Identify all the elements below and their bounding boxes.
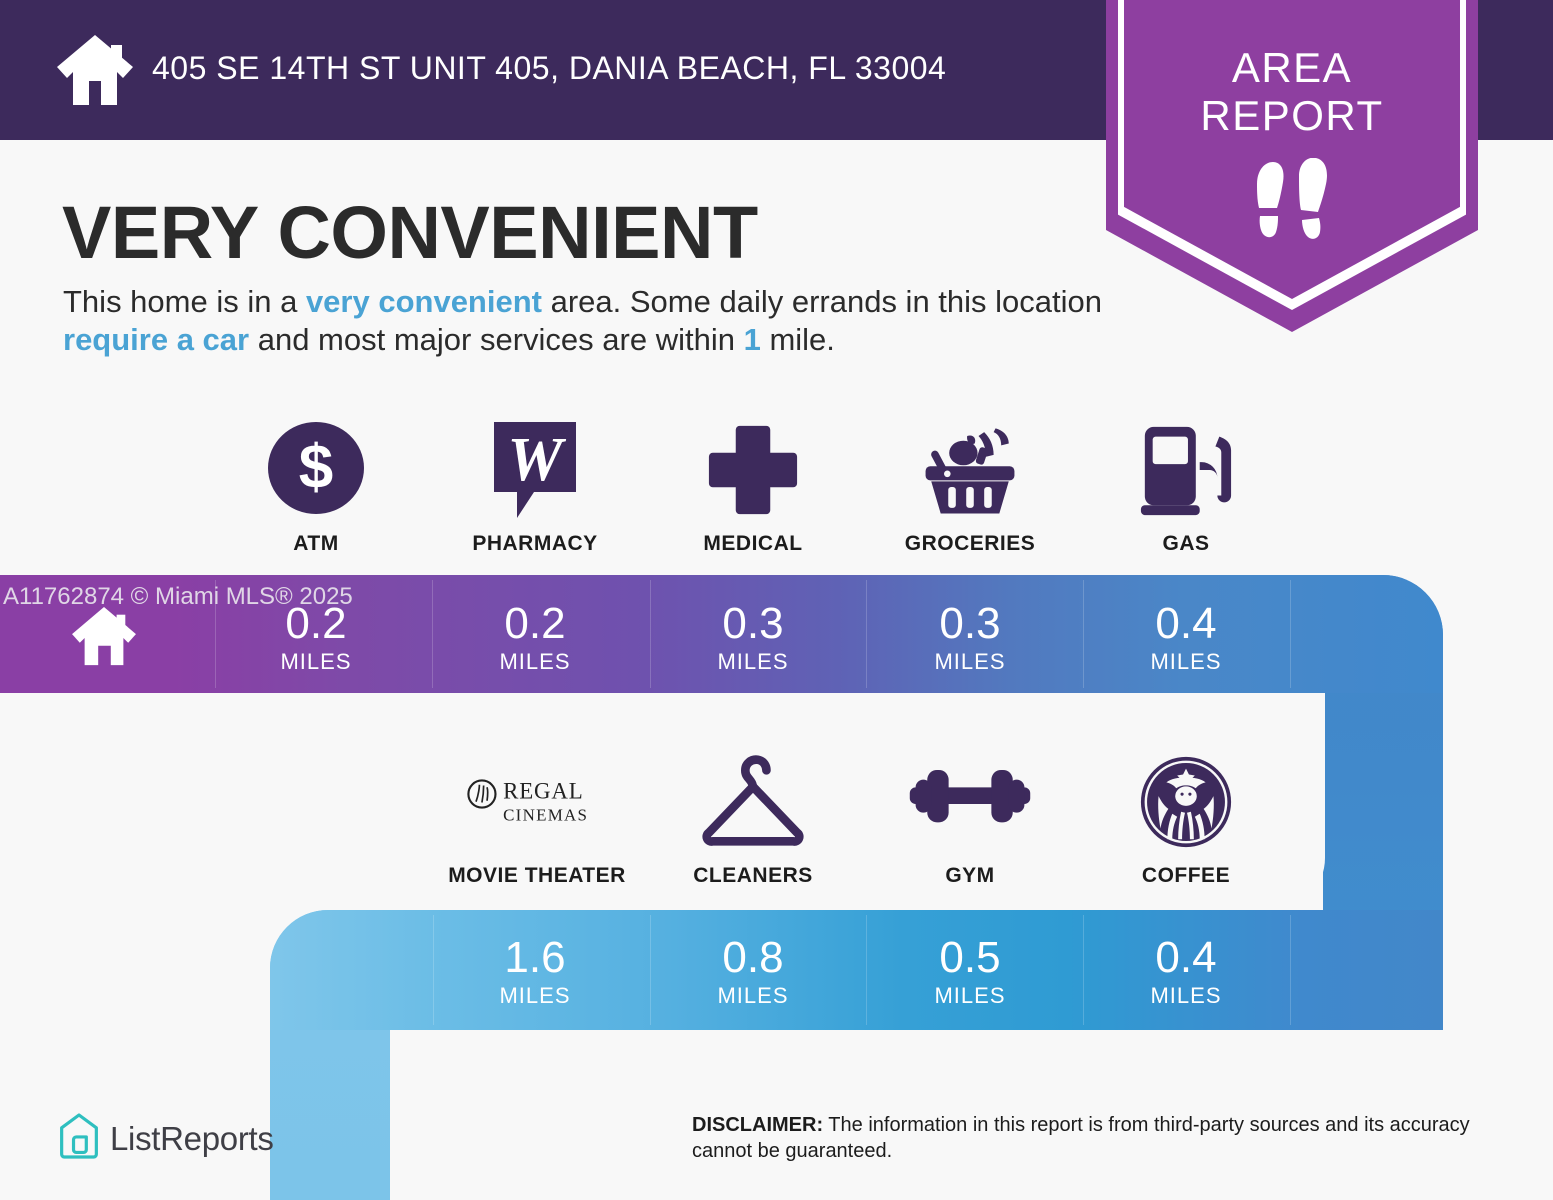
desc-part1: This home is in a [63, 284, 306, 319]
category-pharmacy: W PHARMACY [458, 420, 612, 556]
footprints-icon [1249, 158, 1335, 248]
disclaimer-label: DISCLAIMER: [692, 1114, 823, 1136]
category-label: GYM [892, 864, 1048, 888]
bar-divider [1083, 580, 1084, 688]
walgreens-logo-icon: W [458, 420, 612, 520]
desc-highlight-miles: 1 [744, 322, 761, 357]
distance-unit: MILES [892, 649, 1048, 675]
distance-coffee: 0.4 MILES [1110, 935, 1262, 1009]
desc-highlight-convenient: very convenient [306, 284, 542, 319]
bar-divider [433, 915, 434, 1025]
desc-highlight-car: require a car [63, 322, 249, 357]
category-coffee: COFFEE [1110, 752, 1262, 888]
bar-divider [866, 915, 867, 1025]
dumbbell-icon [892, 752, 1048, 852]
distance-unit: MILES [676, 983, 830, 1009]
category-label: GROCERIES [892, 532, 1048, 556]
category-cleaners: CLEANERS [676, 752, 830, 888]
distance-unit: MILES [458, 983, 612, 1009]
listreports-house-tag-icon [58, 1112, 100, 1165]
distance-value: 0.8 [676, 935, 830, 981]
category-medical: MEDICAL [676, 420, 830, 556]
badge-title: AREA REPORT [1124, 44, 1460, 140]
distance-value: 0.4 [1110, 601, 1262, 647]
category-label: COFFEE [1110, 864, 1262, 888]
distance-cleaners: 0.8 MILES [676, 935, 830, 1009]
distance-medical: 0.3 MILES [676, 601, 830, 675]
area-report-page: 405 SE 14TH ST UNIT 405, DANIA BEACH, FL… [0, 0, 1553, 1200]
distance-value: 0.3 [676, 601, 830, 647]
desc-part3: and most major services are within [249, 322, 743, 357]
distance-unit: MILES [240, 649, 392, 675]
distance-unit: MILES [892, 983, 1048, 1009]
category-gas: GAS [1110, 420, 1262, 556]
badge-title-line2: REPORT [1124, 92, 1460, 140]
gas-pump-icon [1110, 420, 1262, 520]
distance-gas: 0.4 MILES [1110, 601, 1262, 675]
bar-divider [650, 580, 651, 688]
listreports-wordmark: ListReports [110, 1120, 274, 1158]
distance-unit: MILES [458, 649, 612, 675]
starbucks-logo-icon [1110, 752, 1262, 852]
svg-text:$: $ [299, 433, 333, 502]
svg-text:REGAL: REGAL [503, 778, 583, 803]
distance-value: 0.2 [458, 601, 612, 647]
distance-pharmacy: 0.2 MILES [458, 601, 612, 675]
category-label: ATM [240, 532, 392, 556]
category-label: PHARMACY [458, 532, 612, 556]
listreports-brand: ListReports [58, 1112, 274, 1165]
distance-value: 0.5 [892, 935, 1048, 981]
grocery-basket-icon [892, 420, 1048, 520]
distance-bar-row2 [270, 910, 1443, 1030]
bar-divider [432, 580, 433, 688]
home-icon [55, 33, 135, 107]
medical-cross-icon [676, 420, 830, 520]
category-movie-theater: REGAL CINEMAS MOVIE THEATER [444, 752, 630, 888]
page-title: VERY CONVENIENT [62, 190, 758, 275]
category-groceries: GROCERIES [892, 420, 1048, 556]
clothes-hanger-icon [676, 752, 830, 852]
desc-part2: area. Some daily errands in this locatio… [542, 284, 1102, 319]
disclaimer: DISCLAIMER: The information in this repo… [692, 1112, 1492, 1164]
regal-cinemas-logo-icon: REGAL CINEMAS [444, 752, 630, 852]
category-label: MEDICAL [676, 532, 830, 556]
property-address: 405 SE 14TH ST UNIT 405, DANIA BEACH, FL… [152, 50, 946, 87]
bar-divider [1290, 915, 1291, 1025]
distance-value: 1.6 [458, 935, 612, 981]
bar-divider [866, 580, 867, 688]
distance-gym: 0.5 MILES [892, 935, 1048, 1009]
category-gym: GYM [892, 752, 1048, 888]
dollar-circle-icon: $ [240, 420, 392, 520]
distance-groceries: 0.3 MILES [892, 601, 1048, 675]
distance-unit: MILES [1110, 649, 1262, 675]
category-atm: $ ATM [240, 420, 392, 556]
category-label: GAS [1110, 532, 1262, 556]
svg-text:CINEMAS: CINEMAS [503, 805, 588, 824]
category-label: MOVIE THEATER [444, 864, 630, 888]
mls-watermark: A11762874 © Miami MLS® 2025 [3, 583, 353, 611]
bar-divider [650, 915, 651, 1025]
distance-movie-theater: 1.6 MILES [458, 935, 612, 1009]
description-text: This home is in a very convenient area. … [63, 283, 1103, 359]
home-marker-icon [70, 605, 138, 667]
desc-part4: mile. [761, 322, 835, 357]
distance-unit: MILES [676, 649, 830, 675]
bar-divider [1290, 580, 1291, 688]
bar-divider [1083, 915, 1084, 1025]
distance-atm: 0.2 MILES [240, 601, 392, 675]
distance-value: 0.4 [1110, 935, 1262, 981]
badge-title-line1: AREA [1124, 44, 1460, 92]
category-label: CLEANERS [676, 864, 830, 888]
distance-value: 0.3 [892, 601, 1048, 647]
svg-text:W: W [507, 426, 566, 494]
distance-unit: MILES [1110, 983, 1262, 1009]
